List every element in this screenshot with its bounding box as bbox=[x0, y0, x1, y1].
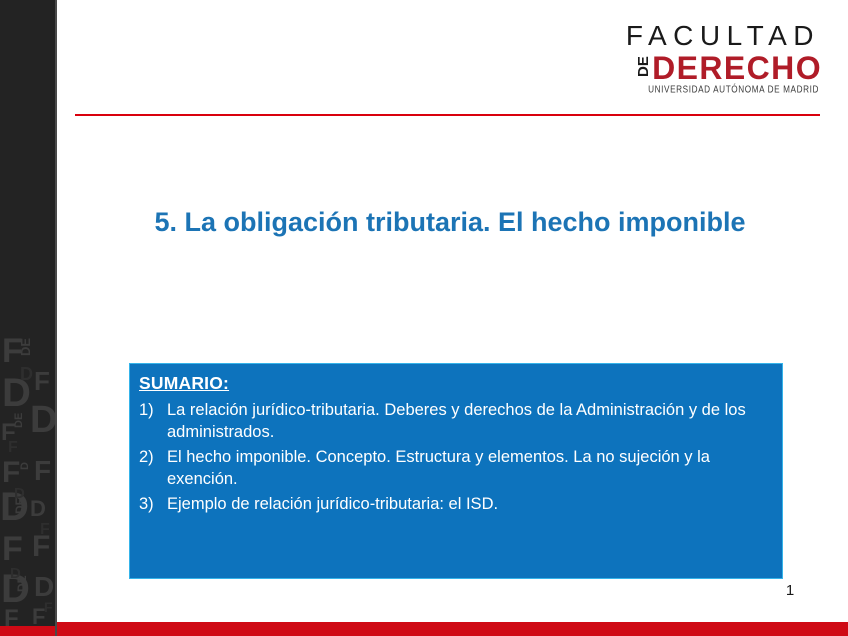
slide-canvas: F DE D F D F DE DE F F D D D DE F F DE bbox=[0, 0, 848, 636]
svg-text:D: D bbox=[10, 565, 21, 582]
list-item: 2) El hecho imponible. Concepto. Estruct… bbox=[139, 447, 772, 491]
logo-de-text: DE bbox=[636, 51, 651, 82]
summary-heading: SUMARIO: bbox=[139, 373, 229, 394]
header-divider-rule bbox=[75, 114, 820, 116]
svg-text:DE: DE bbox=[13, 413, 25, 428]
svg-text:DE: DE bbox=[0, 543, 3, 558]
svg-text:DE: DE bbox=[18, 338, 33, 356]
logo-derecho-text: DERECHO bbox=[652, 53, 822, 83]
list-item-number: 1) bbox=[139, 400, 167, 422]
list-item-number: 2) bbox=[139, 447, 167, 469]
svg-text:F: F bbox=[4, 605, 19, 626]
list-item: 3) Ejemplo de relación jurídico-tributar… bbox=[139, 494, 772, 516]
list-item-text: La relación jurídico-tributaria. Deberes… bbox=[167, 400, 772, 444]
svg-text:D: D bbox=[20, 364, 33, 384]
svg-text:D: D bbox=[34, 571, 54, 602]
svg-text:F: F bbox=[34, 366, 50, 396]
list-item-text: El hecho imponible. Concepto. Estructura… bbox=[167, 447, 772, 491]
logo-second-row: DE DERECHO bbox=[626, 51, 822, 83]
sidebar-edge-line bbox=[55, 0, 57, 636]
footer-red-bar bbox=[0, 622, 848, 636]
svg-text:D: D bbox=[14, 485, 25, 502]
svg-text:F: F bbox=[34, 455, 51, 486]
svg-text:F: F bbox=[40, 521, 50, 538]
decorative-sidebar: F DE D F D F DE DE F F D D D DE F F DE bbox=[0, 0, 57, 636]
logo-facultad-text: FACULTAD bbox=[626, 22, 822, 50]
svg-text:F: F bbox=[8, 439, 18, 456]
logo-university-subtitle: UNIVERSIDAD AUTÓNOMA DE MADRID bbox=[626, 85, 822, 95]
summary-box: SUMARIO: 1) La relación jurídico-tributa… bbox=[129, 363, 783, 579]
page-number: 1 bbox=[770, 582, 810, 599]
list-item: 1) La relación jurídico-tributaria. Debe… bbox=[139, 400, 772, 444]
slide-title: 5. La obligación tributaria. El hecho im… bbox=[110, 205, 790, 241]
svg-text:F: F bbox=[44, 599, 53, 615]
list-item-number: 3) bbox=[139, 494, 167, 516]
list-item-text: Ejemplo de relación jurídico-tributaria:… bbox=[167, 494, 772, 516]
svg-text:D: D bbox=[19, 462, 31, 470]
sidebar-solid-top bbox=[0, 0, 57, 330]
sidebar-letter-pattern: F DE D F D F DE DE F F D D D DE F F DE bbox=[0, 320, 57, 626]
svg-text:D: D bbox=[30, 496, 46, 521]
svg-text:F: F bbox=[2, 530, 23, 568]
svg-text:D: D bbox=[30, 399, 57, 441]
faculty-logo: FACULTAD DE DERECHO UNIVERSIDAD AUTÓNOMA… bbox=[626, 22, 822, 95]
